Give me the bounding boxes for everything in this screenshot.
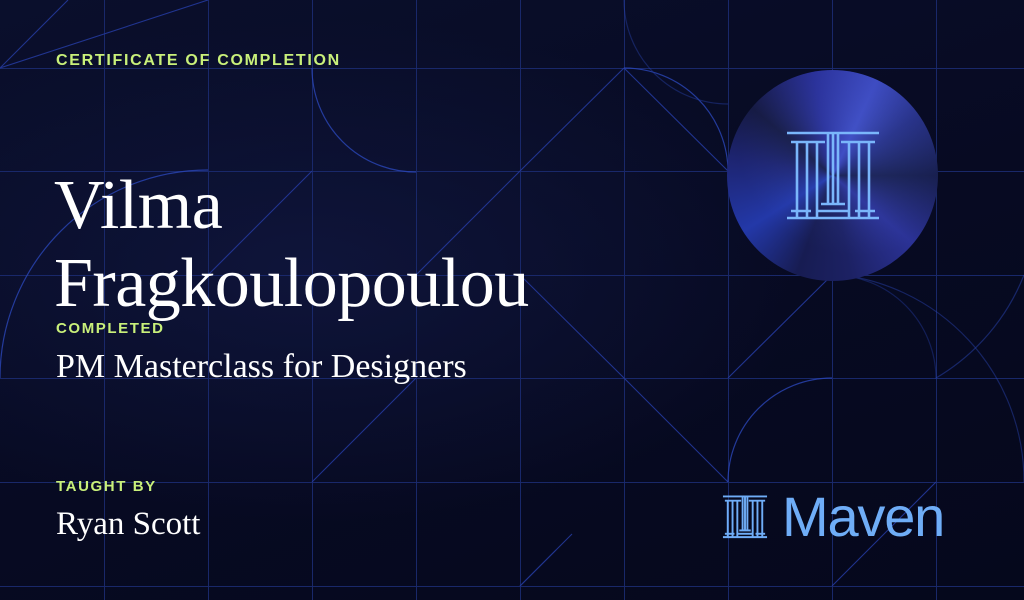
maven-wordmark: Maven xyxy=(722,489,944,545)
completed-label: COMPLETED xyxy=(56,320,467,337)
taught-by-section: TAUGHT BY Ryan Scott xyxy=(56,478,200,545)
maven-columns-icon xyxy=(722,491,768,543)
completed-section: COMPLETED PM Masterclass for Designers xyxy=(56,320,467,388)
instructor-name: Ryan Scott xyxy=(56,505,200,545)
certificate-content: CERTIFICATE OF COMPLETION Vilma Fragkoul… xyxy=(0,0,1024,600)
recipient-name: Vilma Fragkoulopoulou xyxy=(54,167,714,324)
certificate-eyebrow: CERTIFICATE OF COMPLETION xyxy=(56,52,341,70)
course-title: PM Masterclass for Designers xyxy=(56,347,467,388)
maven-wordmark-text: Maven xyxy=(782,489,944,545)
taught-by-label: TAUGHT BY xyxy=(56,478,200,495)
certificate-card: CERTIFICATE OF COMPLETION Vilma Fragkoul… xyxy=(0,0,1024,600)
recipient-name-line2: Fragkoulopoulou xyxy=(54,245,714,323)
recipient-name-line1: Vilma xyxy=(54,167,714,245)
